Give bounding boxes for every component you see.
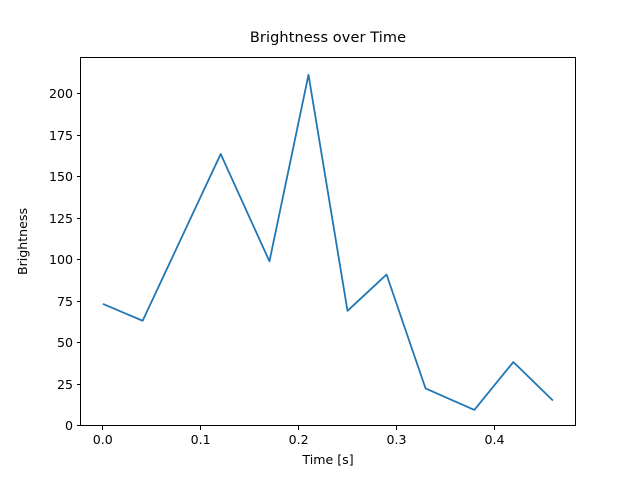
x-tick-mark — [102, 426, 103, 430]
y-tick-label: 75 — [57, 293, 73, 310]
x-tick-mark — [298, 426, 299, 430]
y-axis: 0255075100125150175200 — [0, 0, 80, 480]
x-tick-label: 0.2 — [277, 432, 321, 447]
line-chart-svg — [81, 58, 575, 425]
x-tick-label: 0.4 — [473, 432, 517, 447]
x-tick-mark — [396, 426, 397, 430]
y-tick-label: 100 — [49, 251, 73, 268]
x-tick-label: 0.0 — [81, 432, 125, 447]
y-tick-label: 50 — [57, 334, 73, 351]
x-tick-mark — [494, 426, 495, 430]
y-tick-label: 200 — [49, 85, 73, 102]
x-tick-label: 0.3 — [375, 432, 419, 447]
plot-area — [80, 57, 576, 426]
chart-title: Brightness over Time — [80, 30, 576, 46]
x-tick-mark — [200, 426, 201, 430]
x-tick-label: 0.1 — [179, 432, 223, 447]
y-tick-label: 25 — [57, 376, 73, 393]
y-tick-label: 175 — [49, 127, 73, 144]
matplotlib-figure: Brightness over Time 0255075100125150175… — [0, 0, 640, 480]
y-tick-label: 125 — [49, 210, 73, 227]
y-axis-label: Brightness — [15, 57, 33, 426]
brightness-line — [104, 75, 553, 410]
x-axis-label: Time [s] — [80, 452, 576, 467]
y-tick-label: 150 — [49, 168, 73, 185]
